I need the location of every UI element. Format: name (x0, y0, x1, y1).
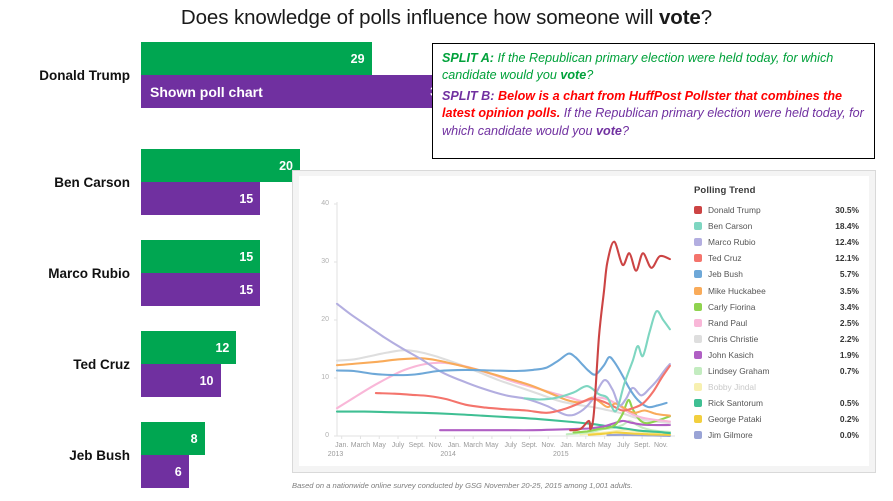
huffpost-pollster-chart: 403020100Jan.MarchMayJulySept.Nov.2013Ja… (292, 170, 876, 473)
y-axis-tick-label: 30 (313, 258, 329, 265)
legend-item[interactable]: Donald Trump30.5% (694, 202, 859, 218)
y-axis-tick-label: 0 (313, 432, 329, 439)
legend-color-swatch-icon (694, 415, 702, 423)
page-title-prefix: Does knowledge of polls influence how so… (181, 6, 659, 29)
y-axis-tick-label: 40 (313, 200, 329, 207)
legend-candidate-name: Chris Christie (708, 334, 840, 344)
bar-split-a: 12 (141, 331, 236, 364)
legend-color-swatch-icon (694, 335, 702, 343)
legend-candidate-name: Donald Trump (708, 205, 835, 215)
legend-candidate-name: John Kasich (708, 350, 840, 360)
trend-line-john-kasich (440, 421, 670, 430)
legend-title: Polling Trend (694, 185, 859, 196)
legend-candidate-name: Bobby Jindal (708, 382, 859, 392)
bar-pair: 2015 (141, 149, 300, 215)
bar-split-a: 29 (141, 42, 372, 75)
legend-candidate-name: Rand Paul (708, 318, 840, 328)
split-b-purple-text-2: ? (622, 124, 629, 138)
legend-item[interactable]: Lindsey Graham0.7% (694, 363, 859, 379)
legend-color-swatch-icon (694, 287, 702, 295)
bar-split-b: 6 (141, 455, 189, 488)
bar-value-label: 15 (239, 250, 253, 263)
legend-candidate-percent: 12.1% (835, 253, 859, 263)
legend-candidate-name: Carly Fiorina (708, 302, 840, 312)
legend-item[interactable]: Jeb Bush5.7% (694, 266, 859, 282)
x-axis-year-label: 2014 (440, 451, 456, 458)
bar-split-b: 10 (141, 364, 221, 397)
bar-value-label: 15 (239, 283, 253, 296)
legend-candidate-name: Jim Gilmore (708, 430, 840, 440)
slide-canvas: Does knowledge of polls influence how so… (0, 0, 893, 501)
split-a-text-1: If the Republican primary election were … (442, 51, 833, 82)
bar-category-label: Ted Cruz (0, 357, 130, 372)
legend-candidate-percent: 2.2% (840, 334, 859, 344)
legend-item[interactable]: Ben Carson18.4% (694, 218, 859, 234)
legend-candidate-percent: 18.4% (835, 221, 859, 231)
legend-item[interactable]: Rick Santorum0.5% (694, 395, 859, 411)
legend-candidate-name: Mike Huckabee (708, 286, 840, 296)
split-a-label: SPLIT A: (442, 51, 498, 65)
legend-color-swatch-icon (694, 303, 702, 311)
split-b-purple-emphasis: vote (596, 124, 622, 138)
legend-candidate-percent: 30.5% (835, 205, 859, 215)
legend-color-swatch-icon (694, 238, 702, 246)
legend-color-swatch-icon (694, 431, 702, 439)
x-axis-year-label: 2015 (553, 451, 569, 458)
legend-item[interactable]: Mike Huckabee3.5% (694, 282, 859, 298)
bar-category-label: Marco Rubio (0, 266, 130, 281)
bar-split-a: 8 (141, 422, 205, 455)
legend-candidate-percent: 5.7% (840, 269, 859, 279)
legend-candidate-percent: 3.4% (840, 302, 859, 312)
legend-color-swatch-icon (694, 399, 702, 407)
bar-split-a: 20 (141, 149, 300, 182)
legend-color-swatch-icon (694, 270, 702, 278)
legend-candidate-name: Ben Carson (708, 221, 835, 231)
legend-item[interactable]: John Kasich1.9% (694, 347, 859, 363)
bar-group-donald-trump: Donald Trump29Shown poll chart39 (0, 42, 430, 108)
legend-color-swatch-icon (694, 222, 702, 230)
bar-pair: 29Shown poll chart39 (141, 42, 451, 108)
split-a-emphasis: vote (560, 68, 586, 82)
bar-pair: 1515 (141, 240, 260, 306)
legend-color-swatch-icon (694, 254, 702, 262)
legend-item[interactable]: Jim Gilmore0.0% (694, 427, 859, 443)
question-callout-box: SPLIT A: If the Republican primary elect… (432, 43, 875, 159)
legend-item[interactable]: Ted Cruz12.1% (694, 250, 859, 266)
legend-candidate-name: Jeb Bush (708, 269, 840, 279)
legend-candidate-percent: 0.5% (840, 398, 859, 408)
bar-value-label: 29 (351, 52, 365, 65)
split-b-red-emphasis: latest opinion polls (442, 106, 557, 120)
legend-candidate-percent: 12.4% (835, 237, 859, 247)
polling-trend-legend: Polling Trend Donald Trump30.5%Ben Carso… (683, 176, 869, 466)
legend-candidate-percent: 0.7% (840, 366, 859, 376)
legend-candidate-percent: 0.0% (840, 430, 859, 440)
bar-category-label: Donald Trump (0, 68, 130, 83)
legend-candidate-name: Rick Santorum (708, 398, 840, 408)
y-axis-tick-label: 20 (313, 316, 329, 323)
bar-value-label: 6 (175, 465, 182, 478)
legend-color-swatch-icon (694, 367, 702, 375)
split-a-text-2: ? (586, 68, 593, 82)
page-title-suffix: ? (701, 6, 712, 29)
legend-item[interactable]: Marco Rubio12.4% (694, 234, 859, 250)
legend-item[interactable]: Rand Paul2.5% (694, 315, 859, 331)
split-b-question: SPLIT B: Below is a chart from HuffPost … (442, 88, 865, 140)
page-title: Does knowledge of polls influence how so… (0, 6, 893, 30)
bar-split-b: 15 (141, 273, 260, 306)
legend-candidate-name: Marco Rubio (708, 237, 835, 247)
x-axis-tick-label: Nov. (647, 442, 675, 451)
bar-pair: 86 (141, 422, 205, 488)
legend-candidate-percent: 3.5% (840, 286, 859, 296)
x-axis-year-label: 2013 (328, 451, 344, 458)
legend-item-list: Donald Trump30.5%Ben Carson18.4%Marco Ru… (694, 202, 859, 443)
legend-item[interactable]: George Pataki0.2% (694, 411, 859, 427)
bar-category-label: Jeb Bush (0, 448, 130, 463)
legend-item[interactable]: Carly Fiorina3.4% (694, 299, 859, 315)
legend-color-swatch-icon (694, 206, 702, 214)
bar-value-label: 8 (191, 432, 198, 445)
legend-item[interactable]: Chris Christie2.2% (694, 331, 859, 347)
legend-color-swatch-icon (694, 351, 702, 359)
shown-poll-chart-label: Shown poll chart (150, 85, 263, 99)
legend-candidate-name: George Pataki (708, 414, 840, 424)
split-b-label: SPLIT B: (442, 89, 498, 103)
legend-candidate-percent: 1.9% (840, 350, 859, 360)
bar-value-label: 10 (200, 374, 214, 387)
split-a-question: SPLIT A: If the Republican primary elect… (442, 50, 865, 85)
bar-split-b: 15 (141, 182, 260, 215)
legend-candidate-name: Ted Cruz (708, 253, 835, 263)
bar-category-label: Ben Carson (0, 175, 130, 190)
y-axis-tick-label: 10 (313, 374, 329, 381)
bar-pair: 1210 (141, 331, 236, 397)
bar-value-label: 20 (279, 159, 293, 172)
survey-footnote: Based on a nationwide online survey cond… (292, 481, 892, 490)
legend-candidate-percent: 0.2% (840, 414, 859, 424)
legend-color-swatch-icon (694, 383, 702, 391)
bar-split-b: Shown poll chart39 (141, 75, 451, 108)
legend-candidate-name: Lindsey Graham (708, 366, 840, 376)
legend-color-swatch-icon (694, 319, 702, 327)
polling-trend-line-plot: 403020100Jan.MarchMayJulySept.Nov.2013Ja… (299, 176, 684, 466)
page-title-emphasis: vote (659, 6, 701, 29)
trend-lines-svg (299, 176, 683, 466)
bar-value-label: 12 (215, 341, 229, 354)
bar-value-label: 15 (239, 192, 253, 205)
legend-item[interactable]: Bobby Jindal (694, 379, 859, 395)
bar-split-a: 15 (141, 240, 260, 273)
legend-candidate-percent: 2.5% (840, 318, 859, 328)
split-b-red-text-1: Below is a chart from HuffPost Pollster … (498, 89, 842, 103)
